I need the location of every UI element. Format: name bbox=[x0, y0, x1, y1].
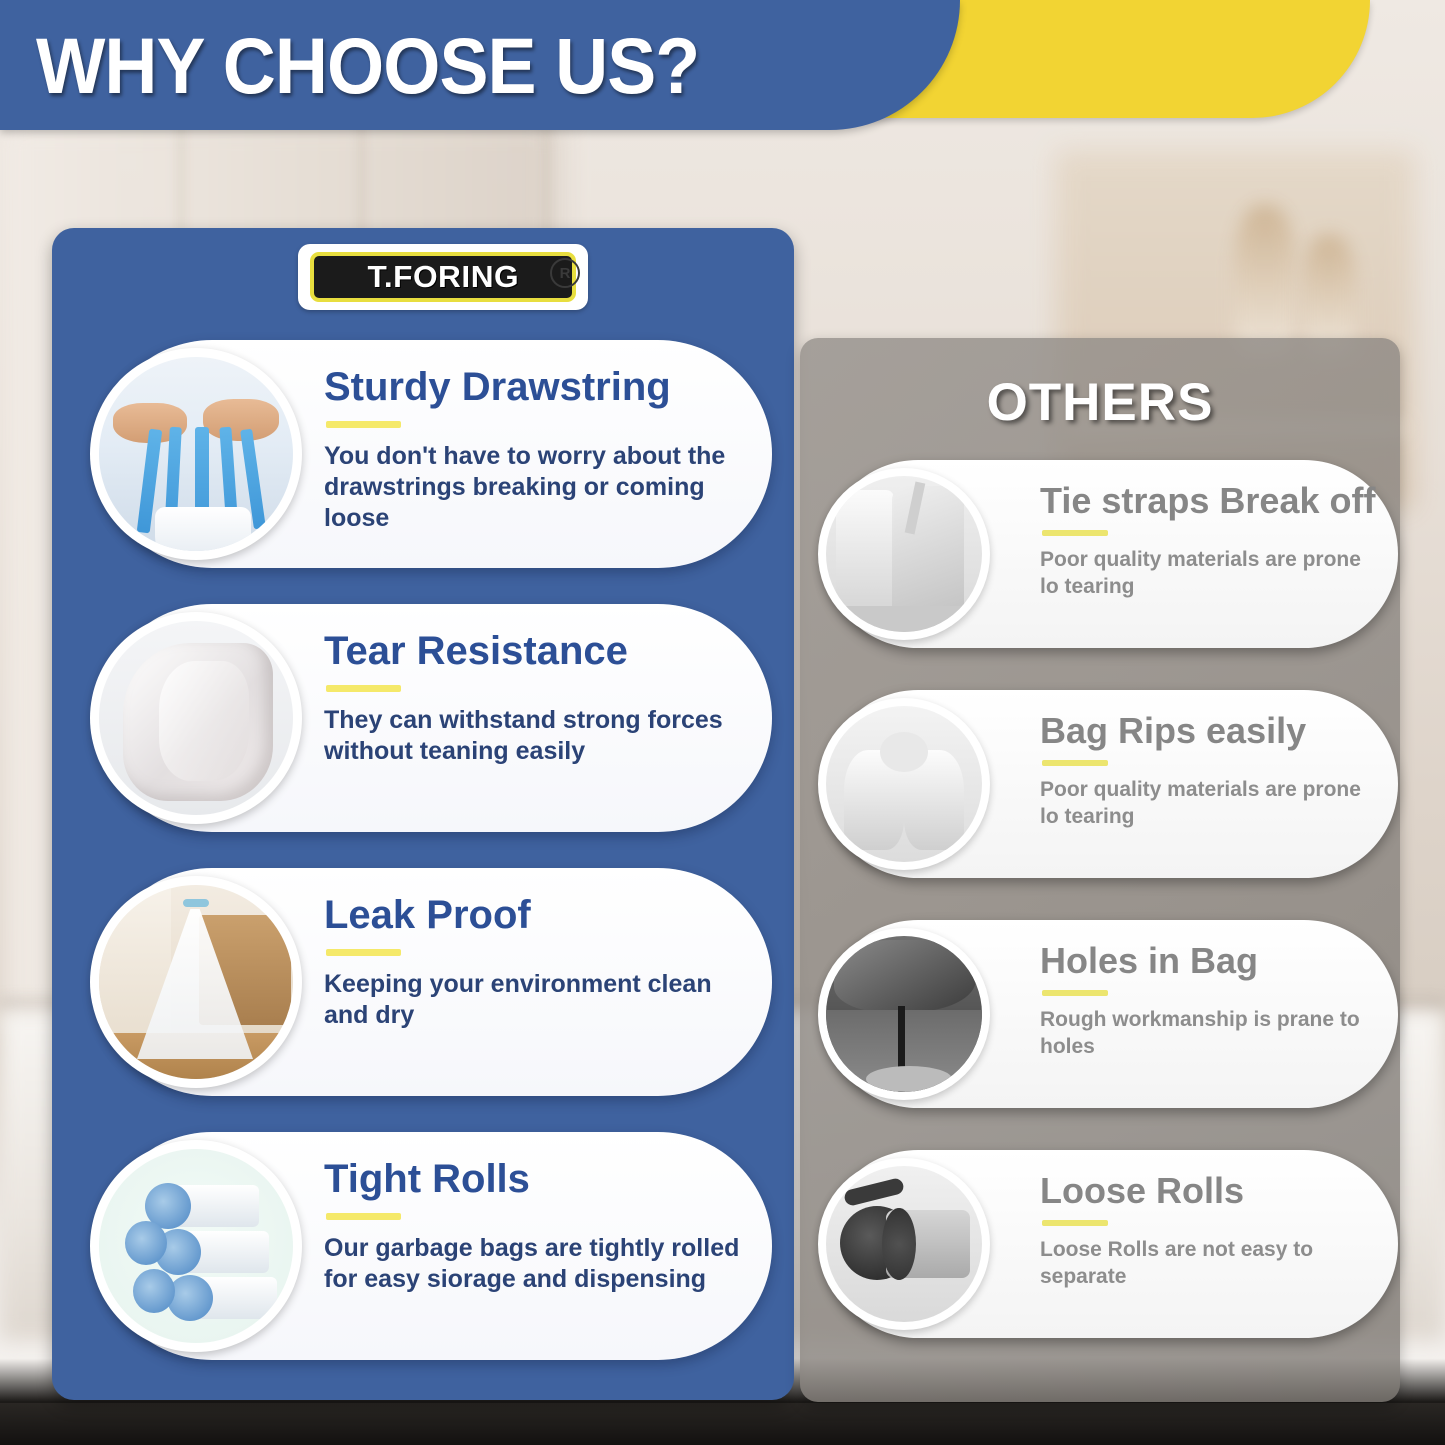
feature-body: They can withstand strong forces without… bbox=[324, 705, 746, 767]
brand-logo-text: T.FORING bbox=[367, 259, 519, 295]
drawback-title: Tie straps Break off bbox=[1040, 480, 1380, 522]
feature-thumbnail bbox=[90, 612, 302, 824]
page-title: WHY CHOOSE US? bbox=[36, 18, 699, 113]
drawback-title: Holes in Bag bbox=[1040, 940, 1380, 982]
drawback-card[interactable]: Loose Rolls Loose Rolls are not easy to … bbox=[824, 1150, 1398, 1338]
feature-title: Leak Proof bbox=[324, 892, 746, 938]
accent-rule bbox=[326, 949, 401, 956]
drawback-title: Bag Rips easily bbox=[1040, 710, 1380, 752]
drawback-card[interactable]: Bag Rips easily Poor quality materials a… bbox=[824, 690, 1398, 878]
drawback-thumbnail bbox=[818, 468, 990, 640]
feature-title: Tight Rolls bbox=[324, 1156, 746, 1202]
drawback-thumbnail bbox=[818, 1158, 990, 1330]
accent-rule bbox=[326, 685, 401, 692]
brand-features-panel: T.FORING R Sturdy Drawstring bbox=[52, 228, 794, 1400]
feature-card[interactable]: Leak Proof Keeping your environment clea… bbox=[98, 868, 772, 1096]
drawback-thumbnail bbox=[818, 928, 990, 1100]
drawback-body: Poor quality materials are prone lo tear… bbox=[1040, 546, 1380, 600]
feature-title: Tear Resistance bbox=[324, 628, 746, 674]
accent-rule bbox=[1042, 990, 1108, 996]
accent-rule bbox=[326, 1213, 401, 1220]
drawback-thumbnail bbox=[818, 698, 990, 870]
drawback-body: Loose Rolls are not easy to separate bbox=[1040, 1236, 1380, 1290]
brand-logo: T.FORING R bbox=[298, 244, 588, 310]
feature-thumbnail bbox=[90, 1140, 302, 1352]
accent-rule bbox=[1042, 1220, 1108, 1226]
feature-body: Our garbage bags are tightly rolled for … bbox=[324, 1233, 746, 1295]
feature-thumbnail bbox=[90, 348, 302, 560]
accent-rule bbox=[1042, 530, 1108, 536]
accent-rule bbox=[326, 421, 401, 428]
drawback-body: Rough workmanship is prane to holes bbox=[1040, 1006, 1380, 1060]
feature-thumbnail bbox=[90, 876, 302, 1088]
feature-card[interactable]: Tear Resistance They can withstand stron… bbox=[98, 604, 772, 832]
drawback-title: Loose Rolls bbox=[1040, 1170, 1380, 1212]
competitor-panel-title: OTHERS bbox=[800, 372, 1400, 433]
drawback-card[interactable]: Tie straps Break off Poor quality materi… bbox=[824, 460, 1398, 648]
feature-card[interactable]: Tight Rolls Our garbage bags are tightly… bbox=[98, 1132, 772, 1360]
drawback-card[interactable]: Holes in Bag Rough workmanship is prane … bbox=[824, 920, 1398, 1108]
registered-trademark-icon: R bbox=[550, 258, 580, 288]
drawback-body: Poor quality materials are prone lo tear… bbox=[1040, 776, 1380, 830]
feature-card[interactable]: Sturdy Drawstring You don't have to worr… bbox=[98, 340, 772, 568]
feature-body: You don't have to worry about the drawst… bbox=[324, 441, 746, 534]
competitor-panel: OTHERS Tie straps Break off Poor quality… bbox=[800, 338, 1400, 1402]
feature-body: Keeping your environment clean and dry bbox=[324, 969, 746, 1031]
feature-title: Sturdy Drawstring bbox=[324, 364, 746, 410]
accent-rule bbox=[1042, 760, 1108, 766]
